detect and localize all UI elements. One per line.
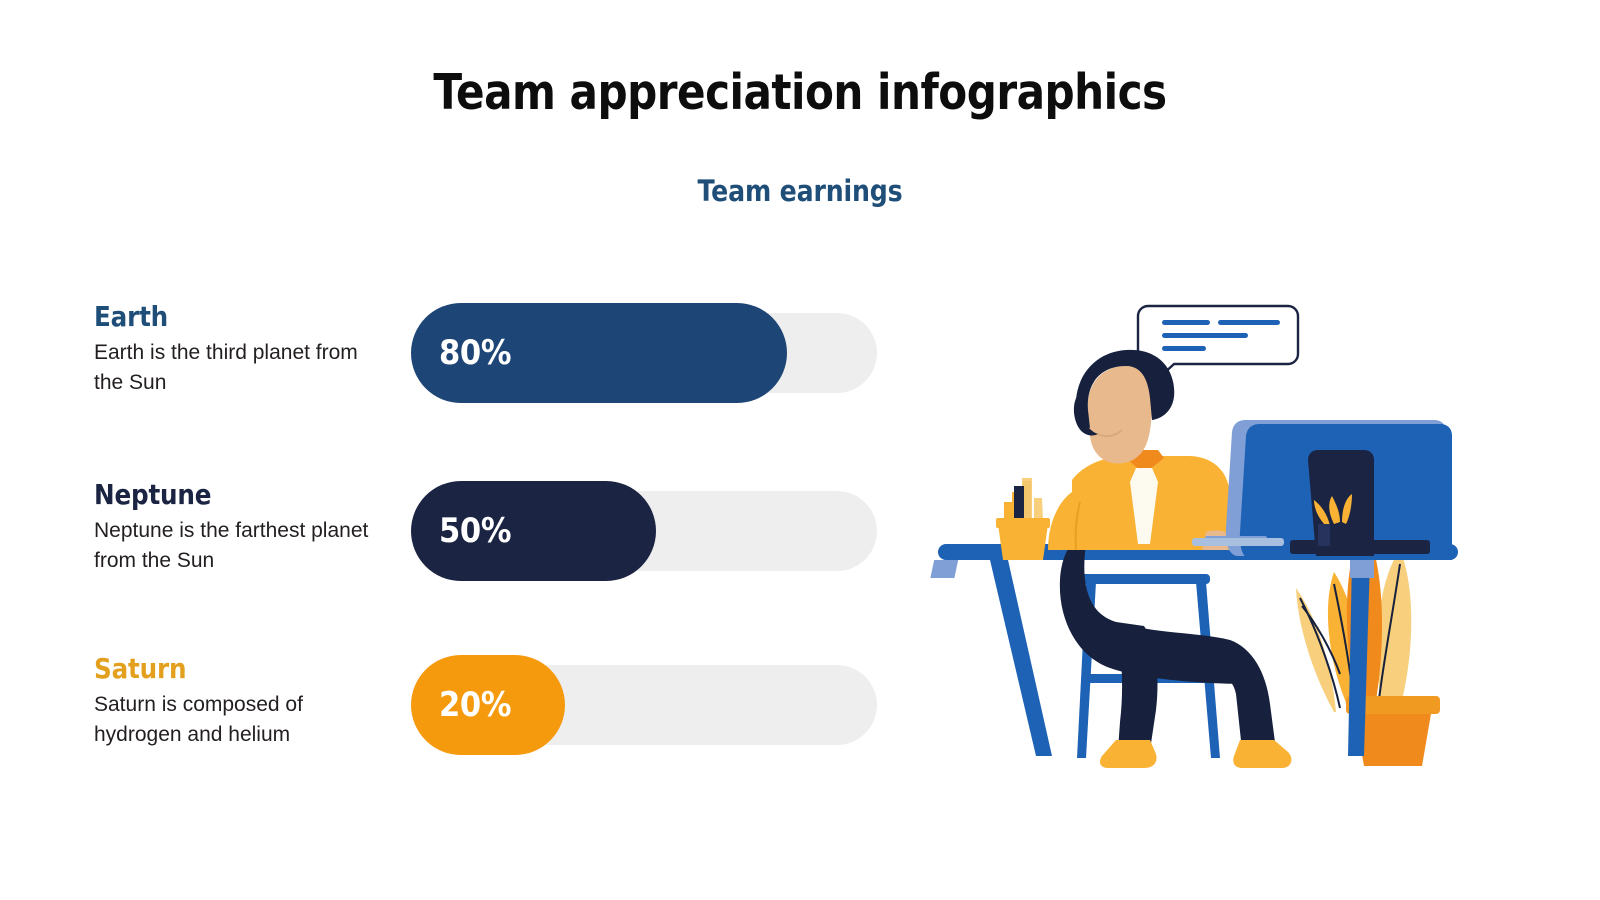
row-description-neptune: Neptune is the farthest planet from the … <box>94 516 370 576</box>
row-description-saturn: Saturn is composed of hydrogen and heliu… <box>94 690 370 750</box>
row-title-earth: Earth <box>94 300 349 334</box>
person-torso <box>1048 450 1236 550</box>
progress-value-saturn: 20% <box>439 685 511 725</box>
slide-canvas: Team appreciation infographics Team earn… <box>0 0 1600 900</box>
row-title-saturn: Saturn <box>94 652 349 686</box>
progress-fill-earth[interactable]: 80% <box>411 303 787 403</box>
progress-value-earth: 80% <box>439 333 511 373</box>
progress-fill-neptune[interactable]: 50% <box>411 481 656 581</box>
row-label-block: Saturn Saturn is composed of hydrogen an… <box>94 652 384 750</box>
row-description-earth: Earth is the third planet from the Sun <box>94 338 370 398</box>
person-head <box>1074 350 1174 464</box>
page-subtitle: Team earnings <box>104 174 1496 208</box>
pencil-cup <box>996 478 1050 560</box>
row-label-block: Earth Earth is the third planet from the… <box>94 300 384 398</box>
row-title-neptune: Neptune <box>94 478 349 512</box>
page-title: Team appreciation infographics <box>112 66 1488 120</box>
progress-value-neptune: 50% <box>439 511 511 551</box>
progress-fill-saturn[interactable]: 20% <box>411 655 565 755</box>
man-working-at-desk-illustration <box>930 288 1490 768</box>
row-label-block: Neptune Neptune is the farthest planet f… <box>94 478 384 576</box>
